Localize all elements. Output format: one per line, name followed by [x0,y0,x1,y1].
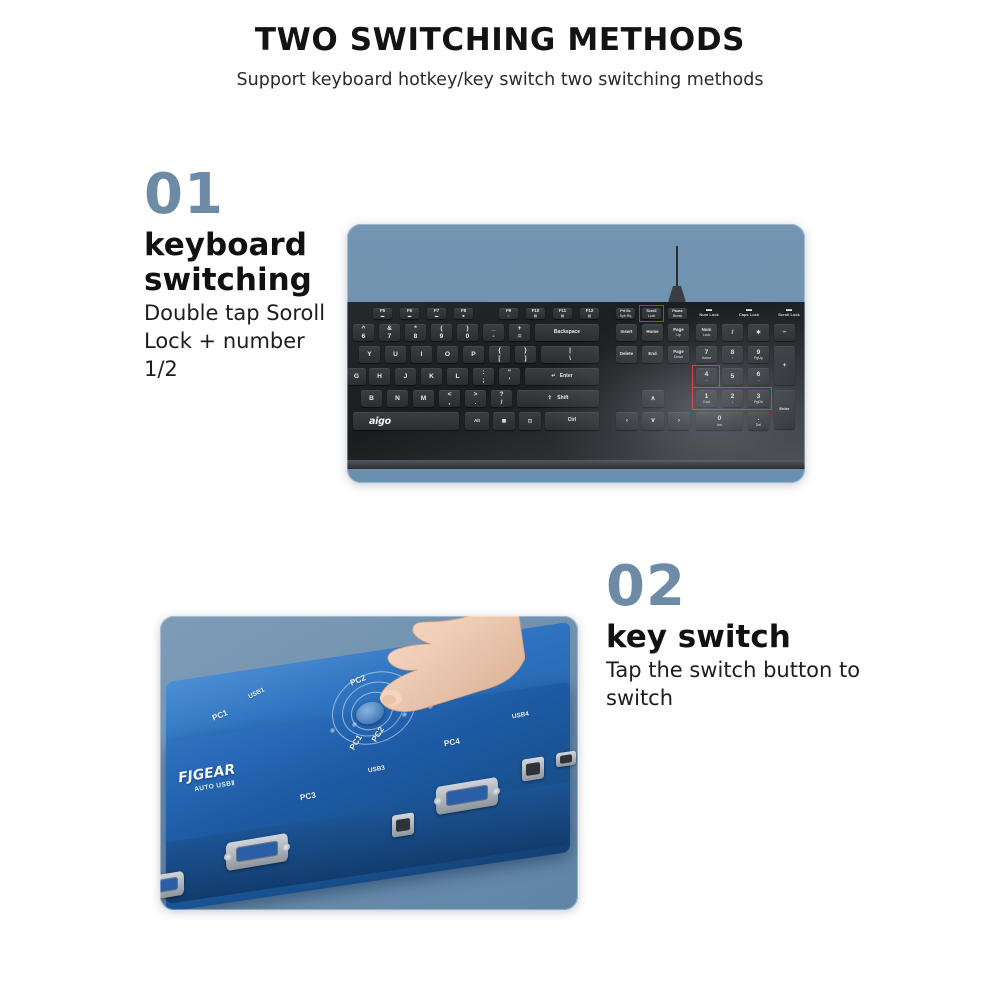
key-numpad-decimal[interactable]: .Del [748,412,769,430]
key-o[interactable]: O [437,346,458,363]
key-j[interactable]: J [395,368,416,385]
key-i[interactable]: I [411,346,432,363]
key-numpad-divide[interactable]: / [722,324,743,341]
key-arrow-up[interactable]: ∧ [642,390,664,407]
usb-port-edge-inner [560,754,573,763]
key-f8[interactable]: F8■ [454,308,473,319]
vga-port-pc3-inner [236,841,278,863]
header: TWO SWITCHING METHODS Support keyboard h… [0,0,1000,90]
hand-pressing-icon [365,616,525,728]
key-numpad-add[interactable]: + [774,346,795,385]
highlight-box-scroll-lock [639,305,664,322]
key-9[interactable]: (9 [431,324,452,341]
key-f6[interactable]: F6▬ [400,308,419,319]
key-numpad-9[interactable]: 9PgUp [748,346,769,363]
key-numpad-6[interactable]: 6→ [748,368,769,385]
key-f12[interactable]: F12▧ [580,308,599,319]
step-02-heading: key switch [606,620,906,655]
key-numpad-enter[interactable]: Enter [774,390,795,429]
key-y[interactable]: Y [359,346,380,363]
vga-port-pc4-screw-left [434,796,442,805]
vga-port-pc4-inner [446,785,488,807]
key-f7[interactable]: F7▬ [427,308,446,319]
key-semicolon[interactable]: :; [473,368,494,385]
led-scroll-lock: ▬Scroll Lock [775,308,803,317]
led-caps-lock: ▬Caps Lock [736,308,762,317]
key-equals[interactable]: += [509,324,530,341]
step-02-number: 02 [606,560,906,613]
key-6[interactable]: ^6 [353,324,374,341]
page-title: TWO SWITCHING METHODS [0,22,1000,58]
usb-port-pc3-inner [396,818,410,832]
key-u[interactable]: U [385,346,406,363]
key-8[interactable]: *8 [405,324,426,341]
key-arrow-right[interactable]: › [668,412,690,430]
key-numpad-subtract[interactable]: − [774,324,795,341]
key-l[interactable]: L [447,368,468,385]
key-numpad-8[interactable]: 8↑ [722,346,743,363]
keyboard-photo: F5▬ F6▬ F7▬ F8■ F9☆ F10▤ F11▤ F12▧ Prt S… [347,224,805,483]
key-numpad-multiply[interactable]: ∗ [748,324,769,341]
vga-port-pc3-screw-left [224,852,232,861]
vga-port-left-edge-inner [160,877,178,894]
step-01-heading: keyboard switching [144,228,344,298]
key-f10[interactable]: F10▤ [526,308,545,319]
key-minus[interactable]: _- [483,324,504,341]
step-02-description: Tap the switch button to switch [606,657,906,713]
key-pause-break[interactable]: PauseBreak [668,308,687,319]
kvm-switch-photo: FJGEAR AUTO USBⅡ USB1 USB2 PC1 PC2 PC1 P… [160,616,578,910]
key-comma[interactable]: <, [439,390,460,407]
page-subtitle: Support keyboard hotkey/key switch two s… [0,70,1000,90]
key-m[interactable]: M [413,390,434,407]
usb-port-pc4-inner [526,762,540,776]
key-backslash[interactable]: |\ [541,346,599,363]
key-menu[interactable]: ◫ [519,412,541,430]
key-bracket-right[interactable]: }] [515,346,536,363]
led-num-lock: ▬Num Lock [696,308,722,317]
key-f11[interactable]: F11▤ [553,308,572,319]
step-01-number: 01 [144,168,344,221]
step-02-text-block: 02 key switch Tap the switch button to s… [606,560,906,713]
key-arrow-down[interactable]: ∨ [642,412,664,430]
key-delete[interactable]: Delete [616,346,637,363]
key-0[interactable]: )0 [457,324,478,341]
key-bracket-left[interactable]: {[ [489,346,510,363]
aigo-logo: aigo [369,416,391,427]
key-f5[interactable]: F5▬ [373,308,392,319]
usb-port-pc3 [392,812,414,837]
key-quote[interactable]: "' [499,368,520,385]
highlight-box-numpad-123 [692,387,772,410]
key-numpad-0[interactable]: 0Ins [696,412,743,430]
key-numpad-5[interactable]: 5 [722,368,743,385]
key-n[interactable]: N [387,390,408,407]
key-numpad-7[interactable]: 7Home [696,346,717,363]
usb-port-edge [556,751,576,768]
step-01-description: Double tap Soroll Lock + number 1/2 [144,300,344,384]
key-p[interactable]: P [463,346,484,363]
key-backspace[interactable]: Backspace [535,324,599,341]
key-home[interactable]: Home [642,324,663,341]
key-num-lock[interactable]: NumLock [696,324,717,341]
key-alt-right[interactable]: Alt [465,412,489,430]
key-insert[interactable]: Insert [616,324,637,341]
key-page-down[interactable]: PageDown [668,346,689,363]
key-slash[interactable]: ?/ [491,390,512,407]
key-enter[interactable]: ↵ Enter [525,368,599,385]
key-page-up[interactable]: PageUp [668,324,689,341]
key-print-screen[interactable]: Prt ScSyb Rq [616,308,635,319]
usb-cable-icon [676,246,678,291]
highlight-box-numpad-4 [692,365,720,388]
key-7[interactable]: &7 [379,324,400,341]
key-end[interactable]: End [642,346,663,363]
key-arrow-left[interactable]: ‹ [616,412,638,430]
key-ctrl-right[interactable]: Ctrl [545,412,599,430]
key-h[interactable]: H [369,368,390,385]
step-01-text-block: 01 keyboard switching Double tap Soroll … [144,168,344,384]
usb-port-pc4 [522,756,544,781]
key-f9[interactable]: F9☆ [499,308,518,319]
key-period[interactable]: >. [465,390,486,407]
key-g[interactable]: G [347,368,366,385]
key-windows[interactable]: ▦ [493,412,515,430]
key-shift-right[interactable]: ⇧ Shift [517,390,599,407]
key-b[interactable]: B [361,390,382,407]
key-k[interactable]: K [421,368,442,385]
